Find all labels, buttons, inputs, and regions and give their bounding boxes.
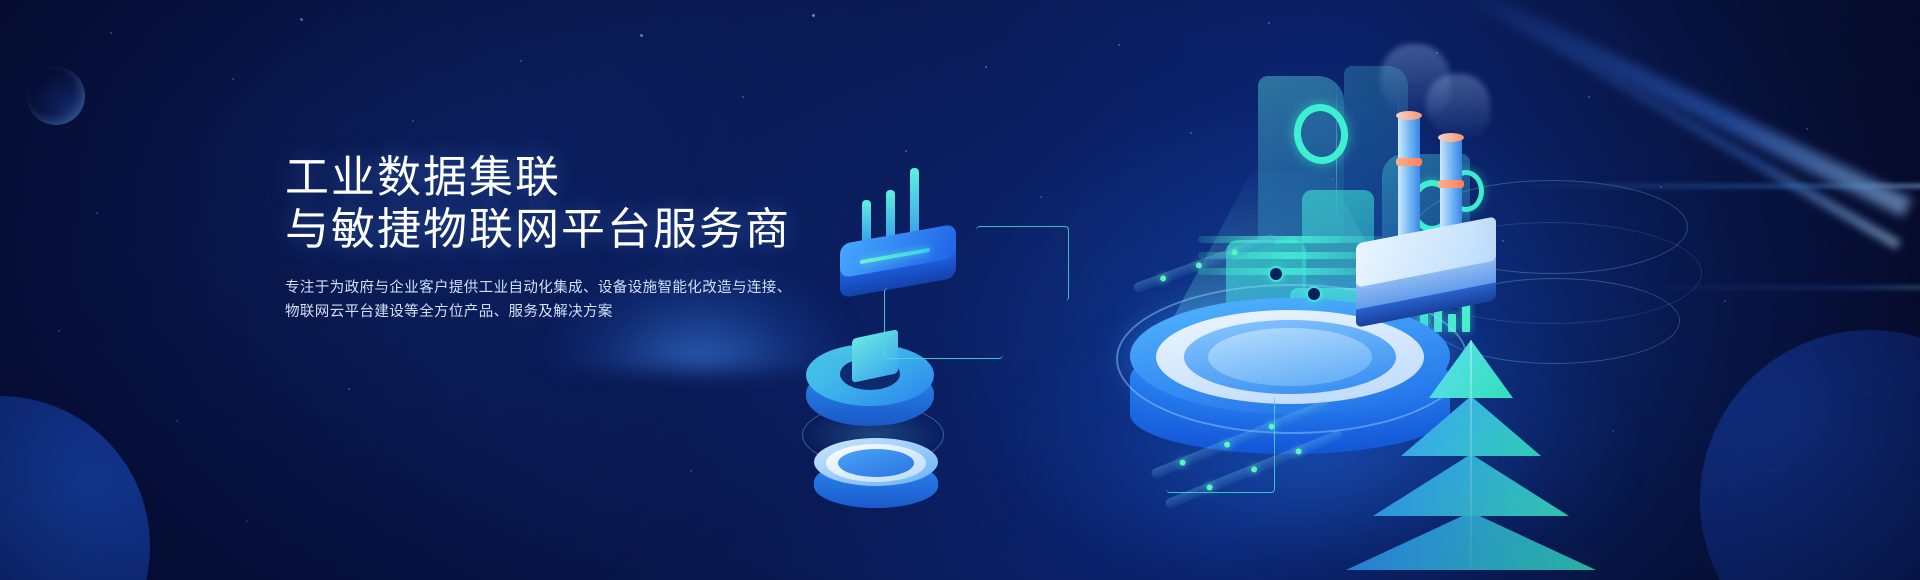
subtitle-line-1: 专注于为政府与企业客户提供工业自动化集成、设备设施智能化改造与连接、	[285, 276, 810, 300]
connection-wire	[976, 226, 1069, 301]
page-title: 工业数据集联 与敏捷物联网平台服务商	[285, 152, 925, 256]
hero-copy: 工业数据集联 与敏捷物联网平台服务商 专注于为政府与企业客户提供工业自动化集成、…	[285, 152, 925, 324]
connection-node	[1268, 266, 1284, 282]
factory-smokestacks	[1356, 74, 1586, 314]
smoke-plume	[1426, 74, 1490, 138]
page-subtitle: 专注于为政府与企业客户提供工业自动化集成、设备设施智能化改造与连接、 物联网云平…	[285, 276, 810, 324]
hero-banner: 工业数据集联 与敏捷物联网平台服务商 专注于为政府与企业客户提供工业自动化集成、…	[0, 0, 1920, 580]
crescent-moon-icon	[27, 67, 85, 125]
planet-left-decoration	[0, 396, 150, 580]
headline-line-2: 与敏捷物联网平台服务商	[285, 204, 925, 256]
connection-node	[1306, 286, 1322, 302]
illustration-scene	[800, 0, 1920, 580]
headline-line-1: 工业数据集联	[285, 153, 561, 202]
subtitle-line-2: 物联网云平台建设等全方位产品、服务及解决方案	[285, 300, 810, 324]
glow-pad-platform	[814, 438, 938, 518]
stepped-pyramid	[1356, 340, 1586, 570]
